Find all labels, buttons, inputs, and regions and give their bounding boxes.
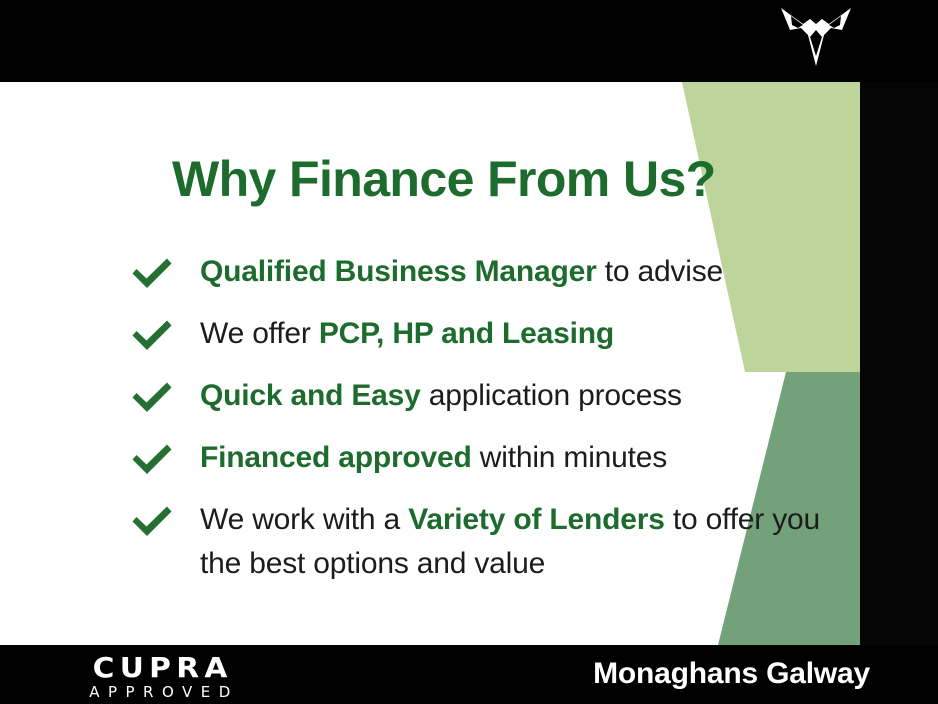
list-item-text: We offer PCP, HP and Leasing [200,312,830,356]
cupra-wordmark: CUPRA [54,653,266,683]
content-panel: Why Finance From Us? Qualified Business … [0,82,860,645]
list-item-text: Financed approved within minutes [200,436,830,480]
list-item-plain: within minutes [472,441,667,474]
check-icon [130,498,200,538]
list-item: Qualified Business Manager to advise [130,250,830,296]
list-item-plain: We offer [200,317,319,350]
list-item: We offer PCP, HP and Leasing [130,312,830,358]
approved-wordmark: APPROVED [60,683,260,701]
bottom-brand-bar: CUPRA APPROVED Monaghans Galway [0,645,938,704]
check-icon [130,312,200,352]
list-item-highlight: PCP, HP and Leasing [319,317,614,350]
list-item: Quick and Easy application process [130,374,830,420]
check-icon [130,374,200,414]
list-item-highlight: Quick and Easy [200,379,421,412]
finance-promo-slide: Why Finance From Us? Qualified Business … [0,0,938,704]
list-item-highlight: Qualified Business Manager [200,255,597,288]
list-item-highlight: Financed approved [200,441,472,474]
list-item-text: We work with a Variety of Lenders to off… [200,498,830,586]
top-brand-bar [0,0,938,82]
benefits-list: Qualified Business Manager to advise We … [130,250,830,602]
dealer-name: Monaghans Galway [593,657,870,691]
check-icon [130,436,200,476]
cupra-tribal-logo-icon [779,4,853,70]
list-item: We work with a Variety of Lenders to off… [130,498,830,586]
check-icon [130,250,200,290]
list-item-plain: to advise [597,255,723,288]
list-item-highlight: Variety of Lenders [408,503,665,536]
page-title: Why Finance From Us? [172,154,716,204]
cupra-approved-logo: CUPRA APPROVED [60,653,260,701]
list-item-text: Qualified Business Manager to advise [200,250,830,294]
list-item-text: Quick and Easy application process [200,374,830,418]
list-item-plain: application process [421,379,682,412]
list-item-plain: We work with a [200,503,408,536]
list-item: Financed approved within minutes [130,436,830,482]
